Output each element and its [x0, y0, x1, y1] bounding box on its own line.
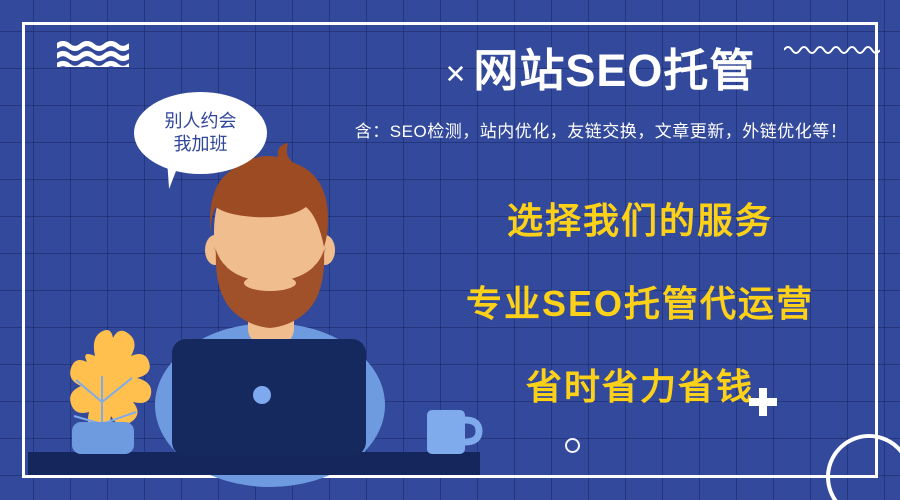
person-at-desk-illustration: [0, 0, 900, 500]
speech-bubble-line-1: 别人约会: [165, 110, 237, 133]
laptop-shape: [172, 339, 366, 456]
plant-shape: [70, 330, 151, 454]
speech-bubble: 别人约会 我加班: [134, 92, 267, 174]
laptop-logo-icon: [253, 386, 271, 404]
mug-shape: [427, 410, 479, 454]
plant-pot-shape: [72, 422, 134, 454]
speech-bubble-text: 别人约会 我加班: [134, 92, 267, 174]
seo-promo-banner: ✕网站SEO托管 含：SEO检测，站内优化，友链交换，文章更新，外链优化等！ 选…: [0, 0, 900, 500]
speech-bubble-line-2: 我加班: [174, 133, 228, 156]
